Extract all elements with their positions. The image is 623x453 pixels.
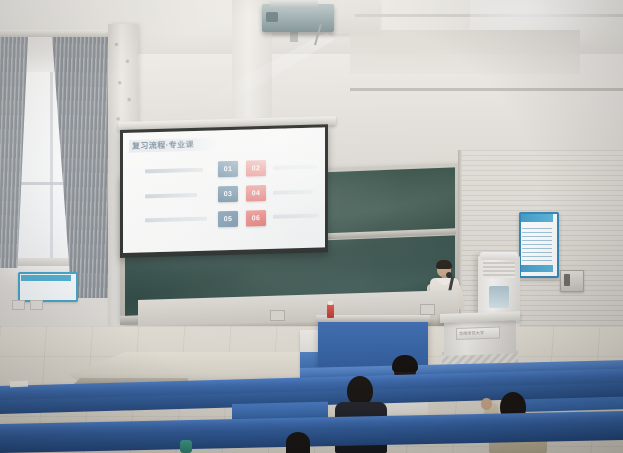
student-foreground-head [286,432,310,453]
lectern-nameplate-text: 华南师范大学 [459,329,495,337]
slide-badge-04: 04 [246,185,266,202]
slide-text-line-1 [145,168,203,174]
slide-text-right-1 [273,165,317,170]
projector-housing-top [270,0,318,8]
microphone-head [446,272,452,278]
wall-socket-b [420,304,435,315]
student-center-hair [392,355,418,372]
wall-socket-a [270,310,285,321]
air-conditioner-display [489,286,509,308]
presenter-hair [436,260,452,269]
wall-outlet-1 [12,300,25,310]
slide-badge-05: 05 [218,211,238,228]
control-panel-switch[interactable] [564,274,570,286]
curtain-rod [0,30,122,37]
red-water-bottle-on-table [327,304,334,318]
slide-text-right-3 [273,214,319,219]
slide-badge-01: 01 [218,161,238,178]
wall-outlet-2 [30,300,43,310]
slide-text-line-3 [145,217,207,223]
notice-board-header [521,214,553,222]
slide-badge-06: 06 [246,210,266,227]
wall-rail-right [350,88,623,91]
bottle-cap [328,301,333,305]
slide-text-right-2 [273,190,313,195]
air-conditioner-top [480,252,518,260]
slide-text-line-2 [145,193,197,198]
slide-badge-03: 03 [218,186,238,203]
notice-board-footer [521,265,553,272]
notice-board-rows [522,225,552,263]
lecture-hall-photo: 复习流程·专业课 01 02 03 04 05 06 华南师范大学 [0,0,623,453]
air-conditioner-vent [483,262,515,278]
student-right-hand [481,398,492,410]
paper-on-desk [10,381,28,388]
wall-sign-left-header [21,275,71,281]
wall-recess [350,30,580,74]
projector-lens [266,12,278,22]
projected-slide: 复习流程·专业课 01 02 03 04 05 06 [123,127,325,253]
window-mullion-vertical [50,72,53,262]
slide-badge-02: 02 [246,160,266,177]
green-cup-on-desk [180,440,192,453]
